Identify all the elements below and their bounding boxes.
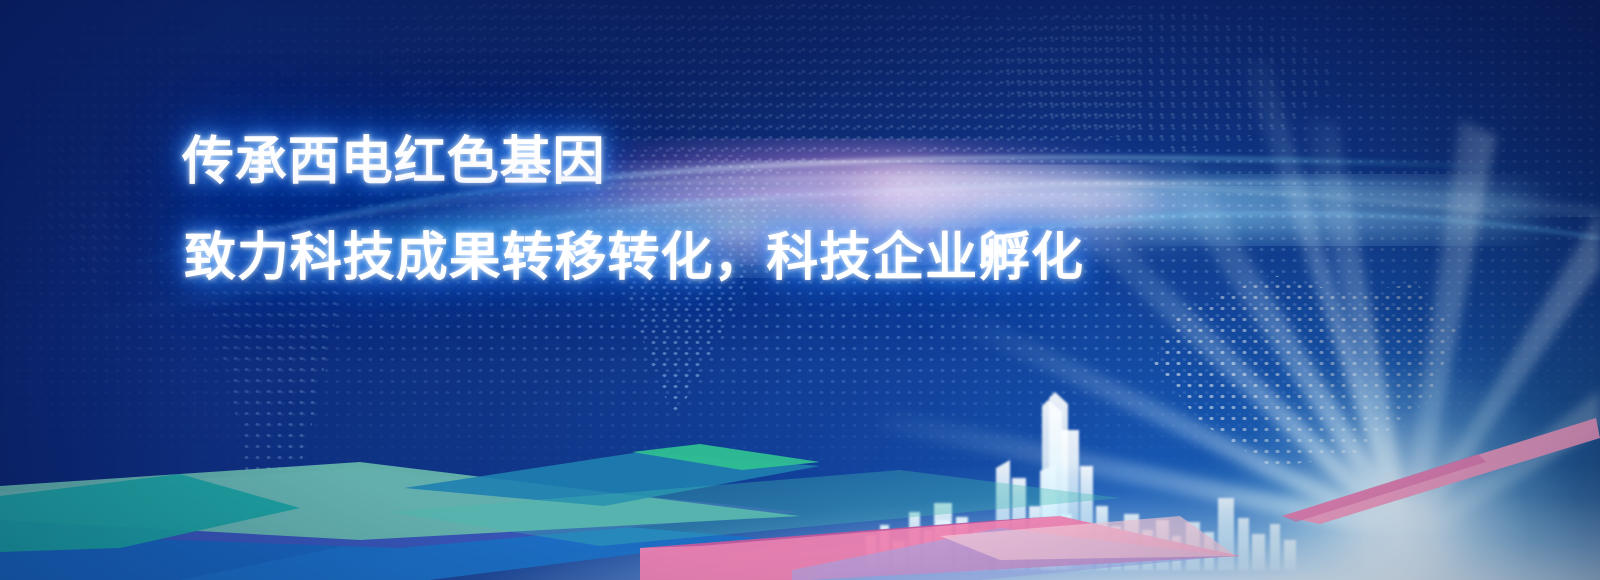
headline-line-1: 传承西电红色基因 <box>182 136 1140 188</box>
ground-glow <box>0 390 1600 580</box>
headline-line-2: 致力科技成果转移转化，科技企业孵化 <box>184 232 1140 284</box>
hero-banner: 传承西电红色基因 致力科技成果转移转化，科技企业孵化 <box>0 0 1600 580</box>
headline-block: 传承西电红色基因 致力科技成果转移转化，科技企业孵化 <box>180 136 1140 284</box>
